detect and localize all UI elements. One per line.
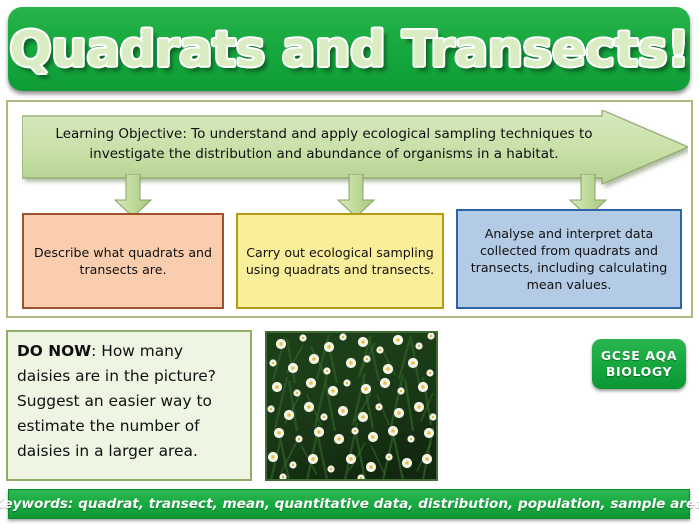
learning-objective-text: Learning Objective: To understand and ap… (44, 124, 604, 164)
down-arrow-2 (337, 174, 375, 218)
outcome-box-carry-out: Carry out ecological sampling using quad… (236, 213, 444, 309)
outcome-text-1: Describe what quadrats and transects are… (31, 244, 215, 278)
do-now-box: DO NOW: How many daisies are in the pict… (6, 330, 252, 481)
outcome-text-3: Analyse and interpret data collected fro… (465, 225, 673, 293)
objectives-panel: Learning Objective: To understand and ap… (6, 100, 693, 318)
keywords-text: Keywords: quadrat, transect, mean, quant… (0, 496, 699, 512)
gcse-aqa-biology-badge: GCSE AQA BIOLOGY (592, 339, 686, 389)
badge-line-subject: BIOLOGY (606, 364, 672, 380)
down-arrow-1 (114, 174, 152, 218)
daisies-photo (265, 331, 438, 481)
do-now-label: DO NOW (17, 342, 91, 360)
badge-line-qualification: GCSE AQA (601, 348, 677, 364)
outcome-box-analyse: Analyse and interpret data collected fro… (456, 209, 682, 309)
outcome-text-2: Carry out ecological sampling using quad… (245, 244, 435, 278)
slide-title-banner: Quadrats and Transects! (8, 7, 690, 91)
page-title: Quadrats and Transects! (9, 21, 689, 78)
keywords-bar: Keywords: quadrat, transect, mean, quant… (8, 489, 690, 519)
outcome-box-describe: Describe what quadrats and transects are… (22, 213, 224, 309)
